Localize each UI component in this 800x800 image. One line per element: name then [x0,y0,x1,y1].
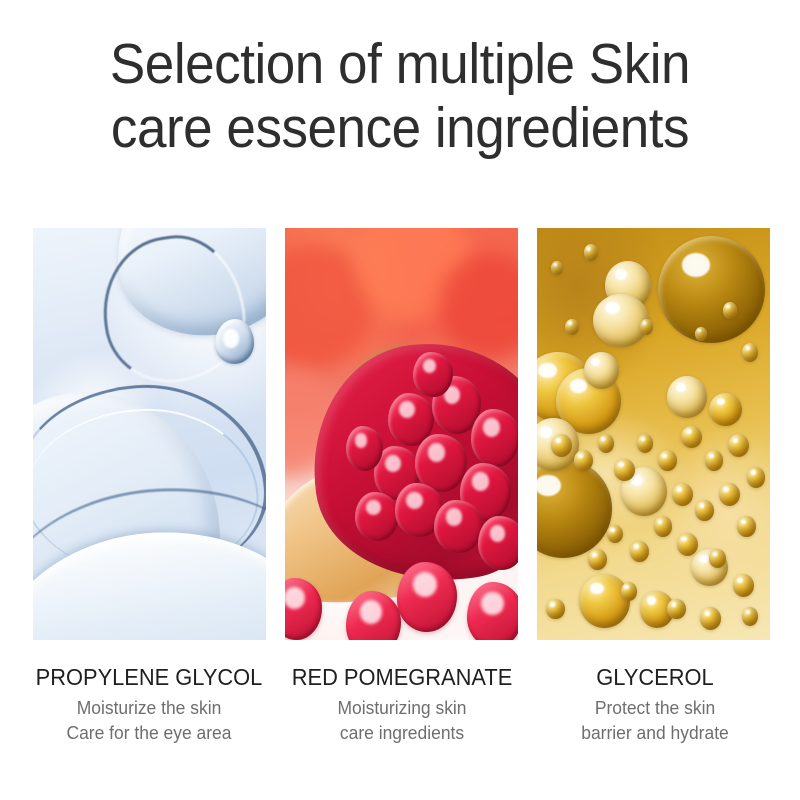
page-title-line-2: care essence ingredients [45,96,756,160]
ingredient-desc-line-1: Protect the skin [534,696,777,721]
oil-bubble-small [667,599,686,620]
oil-bubble-small [621,582,637,601]
oil-bubble-small [565,319,579,335]
oil-bubble-small [551,261,563,275]
pomegranate-aril [478,516,518,570]
oil-bubble-small [658,450,677,471]
oil-bubble-small [709,549,725,568]
oil-bubble [709,393,742,426]
oil-bubble-small [742,343,758,362]
oil-bubble-small [637,434,653,453]
oil-bubble-small [654,516,673,537]
oil-bubble-small [728,434,749,457]
oil-bubble-small [640,319,654,335]
oil-bubble-small [747,467,766,488]
ingredient-name: GLYCEROL [536,662,774,692]
ingredient-image-red-pomegranate [285,228,518,640]
oil-bubble-small [742,607,758,626]
oil-bubble-small [700,607,721,630]
oil-bubble-small [695,327,707,341]
oil-bubble [579,574,630,628]
ingredient-desc-line-2: barrier and hydrate [534,721,777,746]
oil-bubble-small [677,533,698,556]
oil-bubble-small [607,525,623,544]
oil-bubble-small [719,483,740,506]
oil-bubble [667,376,707,417]
oil-bubble-small [723,302,737,318]
oil-bubble-small [672,483,693,506]
ingredient-image-row [33,228,770,640]
oil-bubble-small [588,549,607,570]
pomegranate-aril [471,409,518,467]
ingredient-name: RED POMEGRANATE [283,662,521,692]
oil-bubble-small [737,516,756,537]
oil-bubble-small [733,574,754,597]
ingredient-caption-row: PROPYLENE GLYCOL Moisturize the skin Car… [24,662,780,746]
oil-bubble-small [546,599,565,620]
oil-bubble-small [681,426,702,449]
pomegranate-loose-aril [467,582,518,640]
infographic-page: Selection of multiple Skin care essence … [0,0,800,800]
oil-bubble [584,352,619,389]
ingredient-caption-propylene-glycol: PROPYLENE GLYCOL Moisturize the skin Car… [24,662,274,746]
oil-bubble [658,236,765,343]
oil-bubble-small [705,450,724,471]
oil-bubble-small [695,500,714,521]
ingredient-desc-line-1: Moisturize the skin [28,696,271,721]
ingredient-image-propylene-glycol [33,228,266,640]
pomegranate-aril [413,352,453,397]
oil-bubble-small [630,541,649,562]
ingredient-caption-glycerol: GLYCEROL Protect the skin barrier and hy… [530,662,780,746]
oil-bubble-small [584,244,598,260]
page-title: Selection of multiple Skin care essence … [0,32,800,160]
ingredient-caption-red-pomegranate: RED POMEGRANATE Moisturizing skin care i… [277,662,527,746]
ingredient-desc-line-2: care ingredients [281,721,524,746]
pomegranate-loose-aril [397,562,458,632]
ingredient-image-glycerol [537,228,770,640]
oil-bubble-small [551,434,572,457]
oil-bubble [593,294,649,348]
page-title-line-1: Selection of multiple Skin [45,32,756,96]
ingredient-desc-line-2: Care for the eye area [28,721,271,746]
oil-bubble-small [574,450,593,471]
water-droplet-icon [215,319,255,364]
pomegranate-aril [346,426,383,471]
oil-bubble-small [614,459,635,482]
ingredient-desc-line-1: Moisturizing skin [281,696,524,721]
ingredient-name: PROPYLENE GLYCOL [30,662,268,692]
oil-bubble-small [598,434,614,453]
